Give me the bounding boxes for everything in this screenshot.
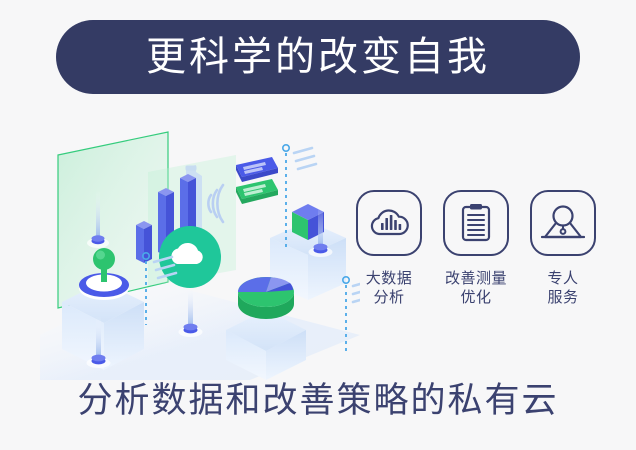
person-headset-icon (530, 190, 596, 256)
feature-label: 改善测量 优化 (445, 269, 507, 307)
illustration-isometric-scene (40, 120, 360, 380)
promo-banner-page: 更科学的改变自我 (0, 0, 636, 450)
clipboard-icon (443, 190, 509, 256)
feature-label: 大数据 分析 (366, 269, 413, 307)
feature-dedicated-service[interactable]: 专人 服务 (526, 190, 600, 307)
feature-list: 大数据 分析 改善测量 优化 (352, 190, 600, 307)
badge-blue (236, 157, 278, 182)
feature-improvement-measurement[interactable]: 改善测量 优化 (439, 190, 513, 307)
feature-label: 专人 服务 (547, 269, 578, 307)
tagline: 分析数据和改善策略的私有云 (0, 383, 636, 418)
feature-big-data-analysis[interactable]: 大数据 分析 (352, 190, 426, 307)
page-title: 更科学的改变自我 (146, 37, 490, 77)
pie-chart-icon (238, 277, 294, 319)
pedestal-pie-chart (226, 277, 306, 380)
header-banner: 更科学的改变自我 (56, 20, 580, 94)
cloud-bar-chart-icon (356, 190, 422, 256)
badge-green (236, 179, 278, 204)
